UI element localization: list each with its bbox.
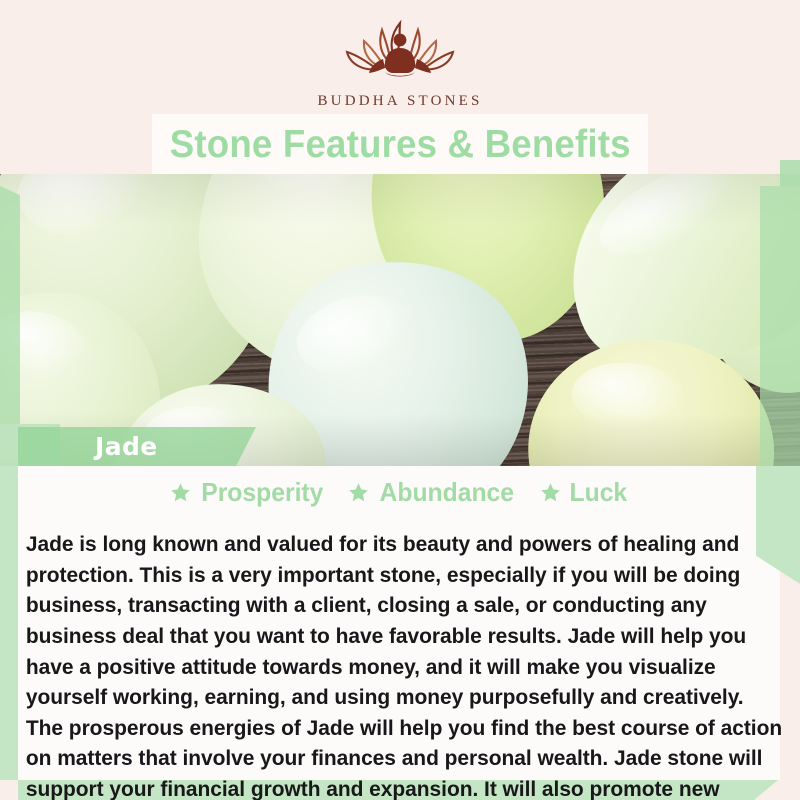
benefits-row: Prosperity Abundance Luck <box>18 474 780 510</box>
benefit-item-luck: Luck <box>540 477 629 508</box>
benefit-item-prosperity: Prosperity <box>170 477 327 508</box>
star-icon <box>170 482 191 503</box>
star-icon <box>348 482 369 503</box>
benefit-label: Luck <box>569 477 627 508</box>
title-banner: Stone Features & Benefits <box>152 114 648 174</box>
decor-bar-left-text <box>0 466 18 780</box>
hero-vignette <box>0 174 800 466</box>
stone-name-label: Jade <box>95 432 158 461</box>
poster-root: BUDDHA STONES Stone Features & Benefits … <box>0 0 800 800</box>
stone-description: Jade is long known and valued for its be… <box>18 529 786 800</box>
star-icon <box>540 482 561 503</box>
stone-name-band: Jade <box>18 427 256 466</box>
benefit-label: Prosperity <box>201 477 323 508</box>
page-title: Stone Features & Benefits <box>169 125 630 164</box>
brand-header: BUDDHA STONES <box>0 14 800 110</box>
lotus-meditation-icon <box>325 14 475 88</box>
brand-name: BUDDHA STONES <box>317 93 482 110</box>
hero-image <box>0 174 800 466</box>
benefit-label: Abundance <box>380 477 514 508</box>
benefit-item-abundance: Abundance <box>348 477 518 508</box>
